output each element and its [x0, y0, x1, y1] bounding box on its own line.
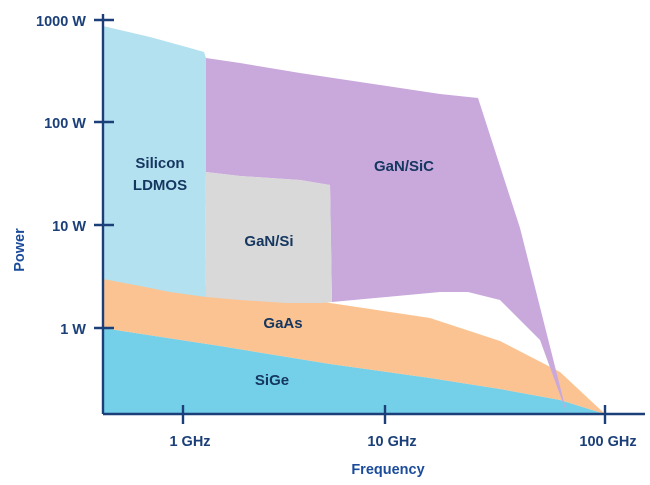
region-label-gan-si: GaN/Si	[244, 233, 293, 250]
region-label-silicon-ldmos-line1: Silicon	[135, 155, 184, 172]
region-label-gaas: GaAs	[263, 315, 302, 332]
y-axis-title: Power	[12, 228, 28, 272]
region-label-silicon-ldmos-line2: LDMOS	[133, 177, 187, 194]
y-tick-label-100w: 100 W	[44, 116, 86, 132]
x-tick-labels: 1 GHz 10 GHz 100 GHz	[169, 434, 636, 450]
region-label-gan-sic: GaN/SiC	[374, 158, 434, 175]
y-tick-labels: 1000 W 100 W 10 W 1 W	[36, 14, 86, 338]
y-tick-label-1w: 1 W	[60, 322, 86, 338]
x-tick-label-100ghz: 100 GHz	[579, 434, 636, 450]
x-axis-title: Frequency	[351, 462, 424, 478]
y-tick-label-1000w: 1000 W	[36, 14, 86, 30]
power-vs-frequency-chart: 1000 W 100 W 10 W 1 W 1 GHz 10 GHz 100 G…	[0, 0, 650, 485]
x-tick-label-10ghz: 10 GHz	[367, 434, 416, 450]
region-areas	[103, 26, 605, 414]
region-label-sige: SiGe	[255, 372, 289, 389]
y-tick-label-10w: 10 W	[52, 219, 86, 235]
x-tick-label-1ghz: 1 GHz	[169, 434, 210, 450]
chart-canvas: 1000 W 100 W 10 W 1 W 1 GHz 10 GHz 100 G…	[0, 0, 650, 485]
